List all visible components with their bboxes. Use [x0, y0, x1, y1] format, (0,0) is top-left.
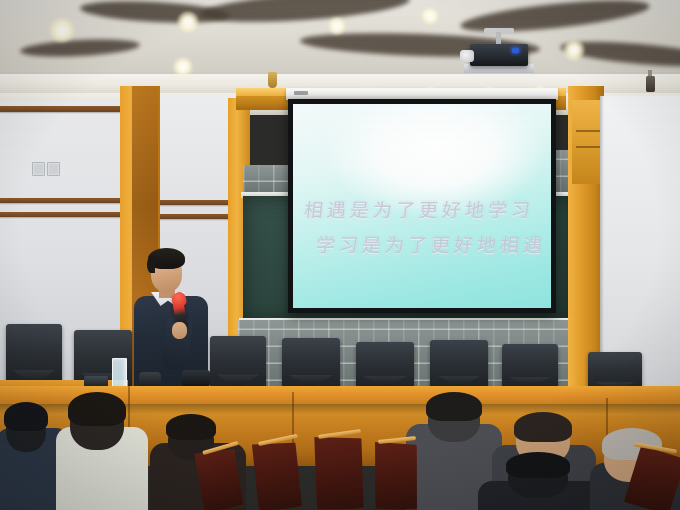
ceiling-spot-light-3	[328, 17, 346, 35]
projection-screen-surface: 相遇是为了更好地学习 学习是为了更好地相遇	[293, 104, 551, 308]
wall-trim-stripe-4	[0, 106, 122, 112]
slide-text-line-1: 相遇是为了更好地学习	[303, 196, 536, 223]
microphone-head	[172, 291, 187, 307]
ceiling-spot-light-1	[177, 11, 199, 33]
presenter-speaking	[126, 244, 222, 389]
wall-switch-1[interactable]	[47, 162, 60, 176]
audience-mid-puffer-hair	[426, 392, 482, 421]
head-table-chair-3	[282, 338, 340, 388]
projector-status-led	[512, 48, 519, 53]
ceiling-spot-light-5	[563, 39, 585, 61]
audience-front-left-pale-hair	[68, 392, 126, 426]
ceiling-spot-light-0	[49, 17, 75, 43]
head-table-chair-4	[356, 342, 414, 388]
wall-trim-stripe-2	[158, 200, 230, 205]
screen-housing-label-tab	[294, 91, 308, 95]
conference-room-photo: 相遇是为了更好地学习 学习是为了更好地相遇	[0, 0, 680, 510]
ceiling-spot-light-2	[173, 57, 193, 77]
slide-text-line-2: 学习是为了更好地相遇	[315, 231, 548, 258]
wall-trim-stripe-1	[0, 212, 122, 217]
audience-right-dark	[478, 452, 608, 510]
auditorium-seat-back-2[interactable]	[307, 431, 371, 510]
wall-switch-0[interactable]	[32, 162, 45, 176]
audience-left-dark-coat-hair	[166, 414, 216, 440]
table-object-right	[182, 370, 210, 387]
ceiling-spot-light-4	[421, 7, 439, 25]
audience-front-left-pale	[56, 390, 148, 510]
brass-ceiling-fixture	[268, 72, 277, 88]
head-table-chair-6	[502, 344, 558, 388]
audience-front-left-dark-hair	[4, 402, 48, 431]
wall-trim-stripe-3	[158, 214, 230, 219]
head-table-chair-0	[6, 324, 62, 386]
wall-trim-stripe-0	[0, 198, 122, 203]
auditorium-seat-back-3[interactable]	[368, 438, 423, 510]
presenter-hair-side	[147, 256, 155, 273]
audience-right-dark-hair	[506, 452, 570, 478]
ceiling-camera-icon	[646, 76, 655, 92]
ceiling-projector	[470, 44, 528, 66]
presenter-hand	[172, 322, 187, 339]
head-table-chair-5	[430, 340, 488, 388]
projector-lens	[460, 50, 474, 62]
audience-mid-right-man-hair	[514, 412, 572, 442]
